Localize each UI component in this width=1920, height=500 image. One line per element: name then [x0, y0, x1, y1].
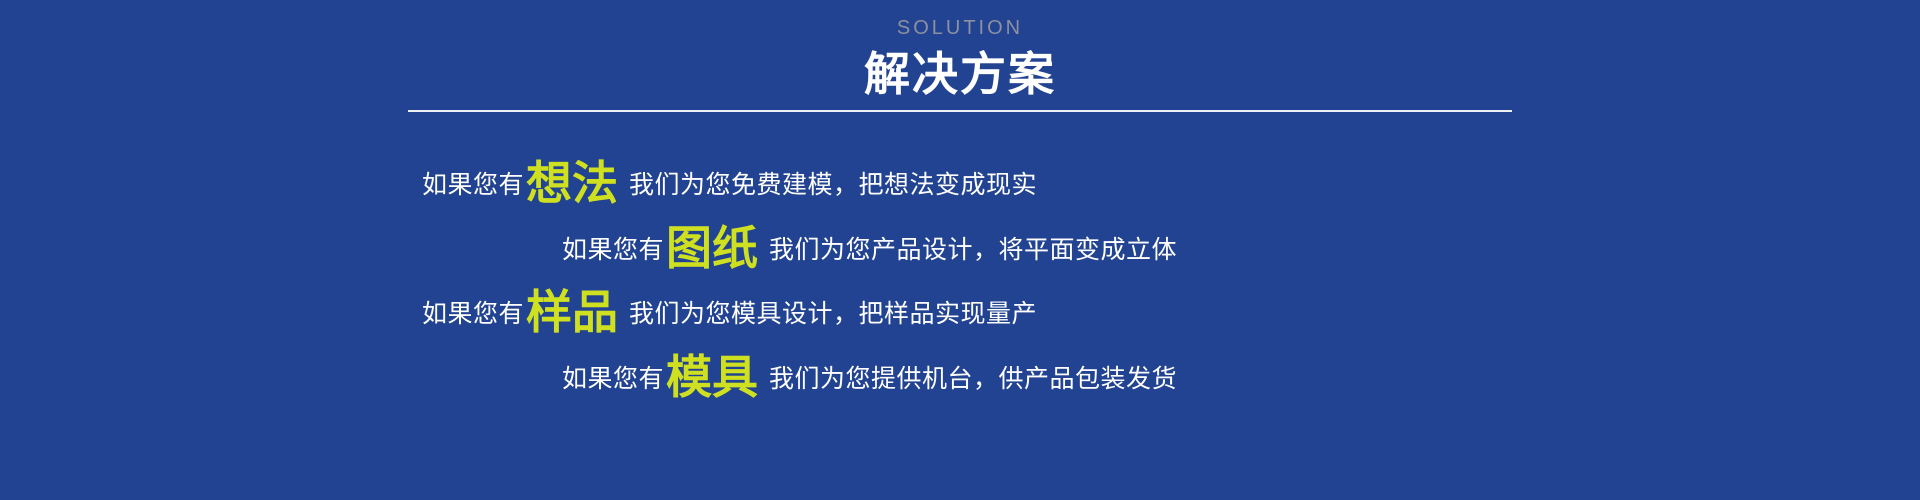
list-item: 如果您有 模具 我们为您提供机台，供产品包装发货	[562, 348, 1177, 394]
solution-detail-text: 我们为您免费建模，把想法变成现实	[629, 173, 1037, 198]
solution-detail-text: 我们为您产品设计，将平面变成立体	[769, 238, 1177, 263]
section-eyebrow: SOLUTION	[0, 18, 1920, 38]
solution-keyword: 图纸	[664, 225, 760, 271]
solution-lead-text: 如果您有	[422, 302, 524, 327]
solution-detail-text: 我们为您提供机台，供产品包装发货	[769, 367, 1177, 392]
solution-banner: SOLUTION 解决方案 如果您有 想法 我们为您免费建模，把想法变成现实 如…	[0, 0, 1920, 500]
solution-lead-text: 如果您有	[422, 173, 524, 198]
solution-keyword: 想法	[524, 160, 620, 206]
section-header: SOLUTION 解决方案	[0, 0, 1920, 100]
solution-detail-text: 我们为您模具设计，把样品实现量产	[629, 302, 1037, 327]
list-item: 如果您有 想法 我们为您免费建模，把想法变成现实	[422, 154, 1037, 200]
list-item: 如果您有 样品 我们为您模具设计，把样品实现量产	[422, 283, 1037, 329]
header-divider	[408, 110, 1512, 112]
solution-lead-text: 如果您有	[562, 367, 664, 392]
list-item: 如果您有 图纸 我们为您产品设计，将平面变成立体	[562, 219, 1177, 265]
solution-lead-text: 如果您有	[562, 238, 664, 263]
solution-keyword: 模具	[664, 354, 760, 400]
page-title: 解决方案	[0, 50, 1920, 100]
solution-keyword: 样品	[524, 289, 620, 335]
solution-list: 如果您有 想法 我们为您免费建模，把想法变成现实 如果您有 图纸 我们为您产品设…	[0, 132, 1920, 500]
